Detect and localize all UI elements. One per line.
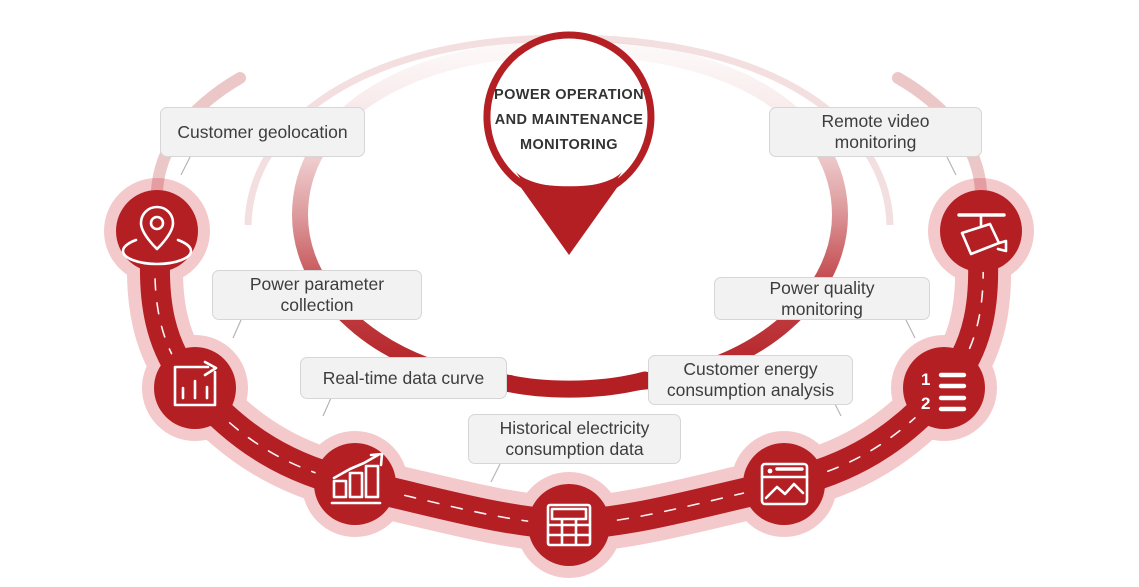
node-circle-remote-video-monitoring	[940, 190, 1022, 272]
node-circle-real-time-data-curve	[314, 443, 396, 525]
label-text-customer-energy-line-2: consumption analysis	[667, 380, 834, 401]
center-pin-line-2: AND MAINTENANCE	[474, 108, 664, 133]
center-pin-title: POWER OPERATION AND MAINTENANCE MONITORI…	[474, 83, 664, 158]
diagram-canvas: 1 2 POWER OPERATION AND M	[0, 0, 1139, 587]
label-customer-energy-consumption-analysis[interactable]: Customer energy consumption analysis	[648, 355, 853, 405]
label-text-power-parameter-collection-line-1: Power parameter	[250, 274, 384, 295]
node-circle-customer-geolocation	[116, 190, 198, 272]
label-text-power-quality-monitoring: Power quality monitoring	[729, 278, 915, 320]
label-remote-video-monitoring[interactable]: Remote video monitoring	[769, 107, 982, 157]
label-text-customer-geolocation: Customer geolocation	[177, 122, 347, 143]
center-pin-line-1: POWER OPERATION	[474, 83, 664, 108]
label-real-time-data-curve[interactable]: Real-time data curve	[300, 357, 507, 399]
label-text-real-time-data-curve: Real-time data curve	[323, 368, 484, 389]
label-historical-electricity-consumption-data[interactable]: Historical electricity consumption data	[468, 414, 681, 464]
label-text-customer-energy-line-1: Customer energy	[683, 359, 817, 380]
node-circle-customer-energy-consumption-analysis	[743, 443, 825, 525]
svg-text:2: 2	[921, 394, 930, 413]
label-text-power-parameter-collection-line-2: collection	[281, 295, 354, 316]
center-pin-line-3: MONITORING	[474, 133, 664, 158]
label-customer-geolocation[interactable]: Customer geolocation	[160, 107, 365, 157]
label-text-historical-line-2: consumption data	[505, 439, 643, 460]
label-power-quality-monitoring[interactable]: Power quality monitoring	[714, 277, 930, 320]
label-power-parameter-collection[interactable]: Power parameter collection	[212, 270, 422, 320]
label-text-remote-video-monitoring: Remote video monitoring	[784, 111, 967, 153]
label-text-historical-line-1: Historical electricity	[500, 418, 650, 439]
svg-text:1: 1	[921, 370, 930, 389]
